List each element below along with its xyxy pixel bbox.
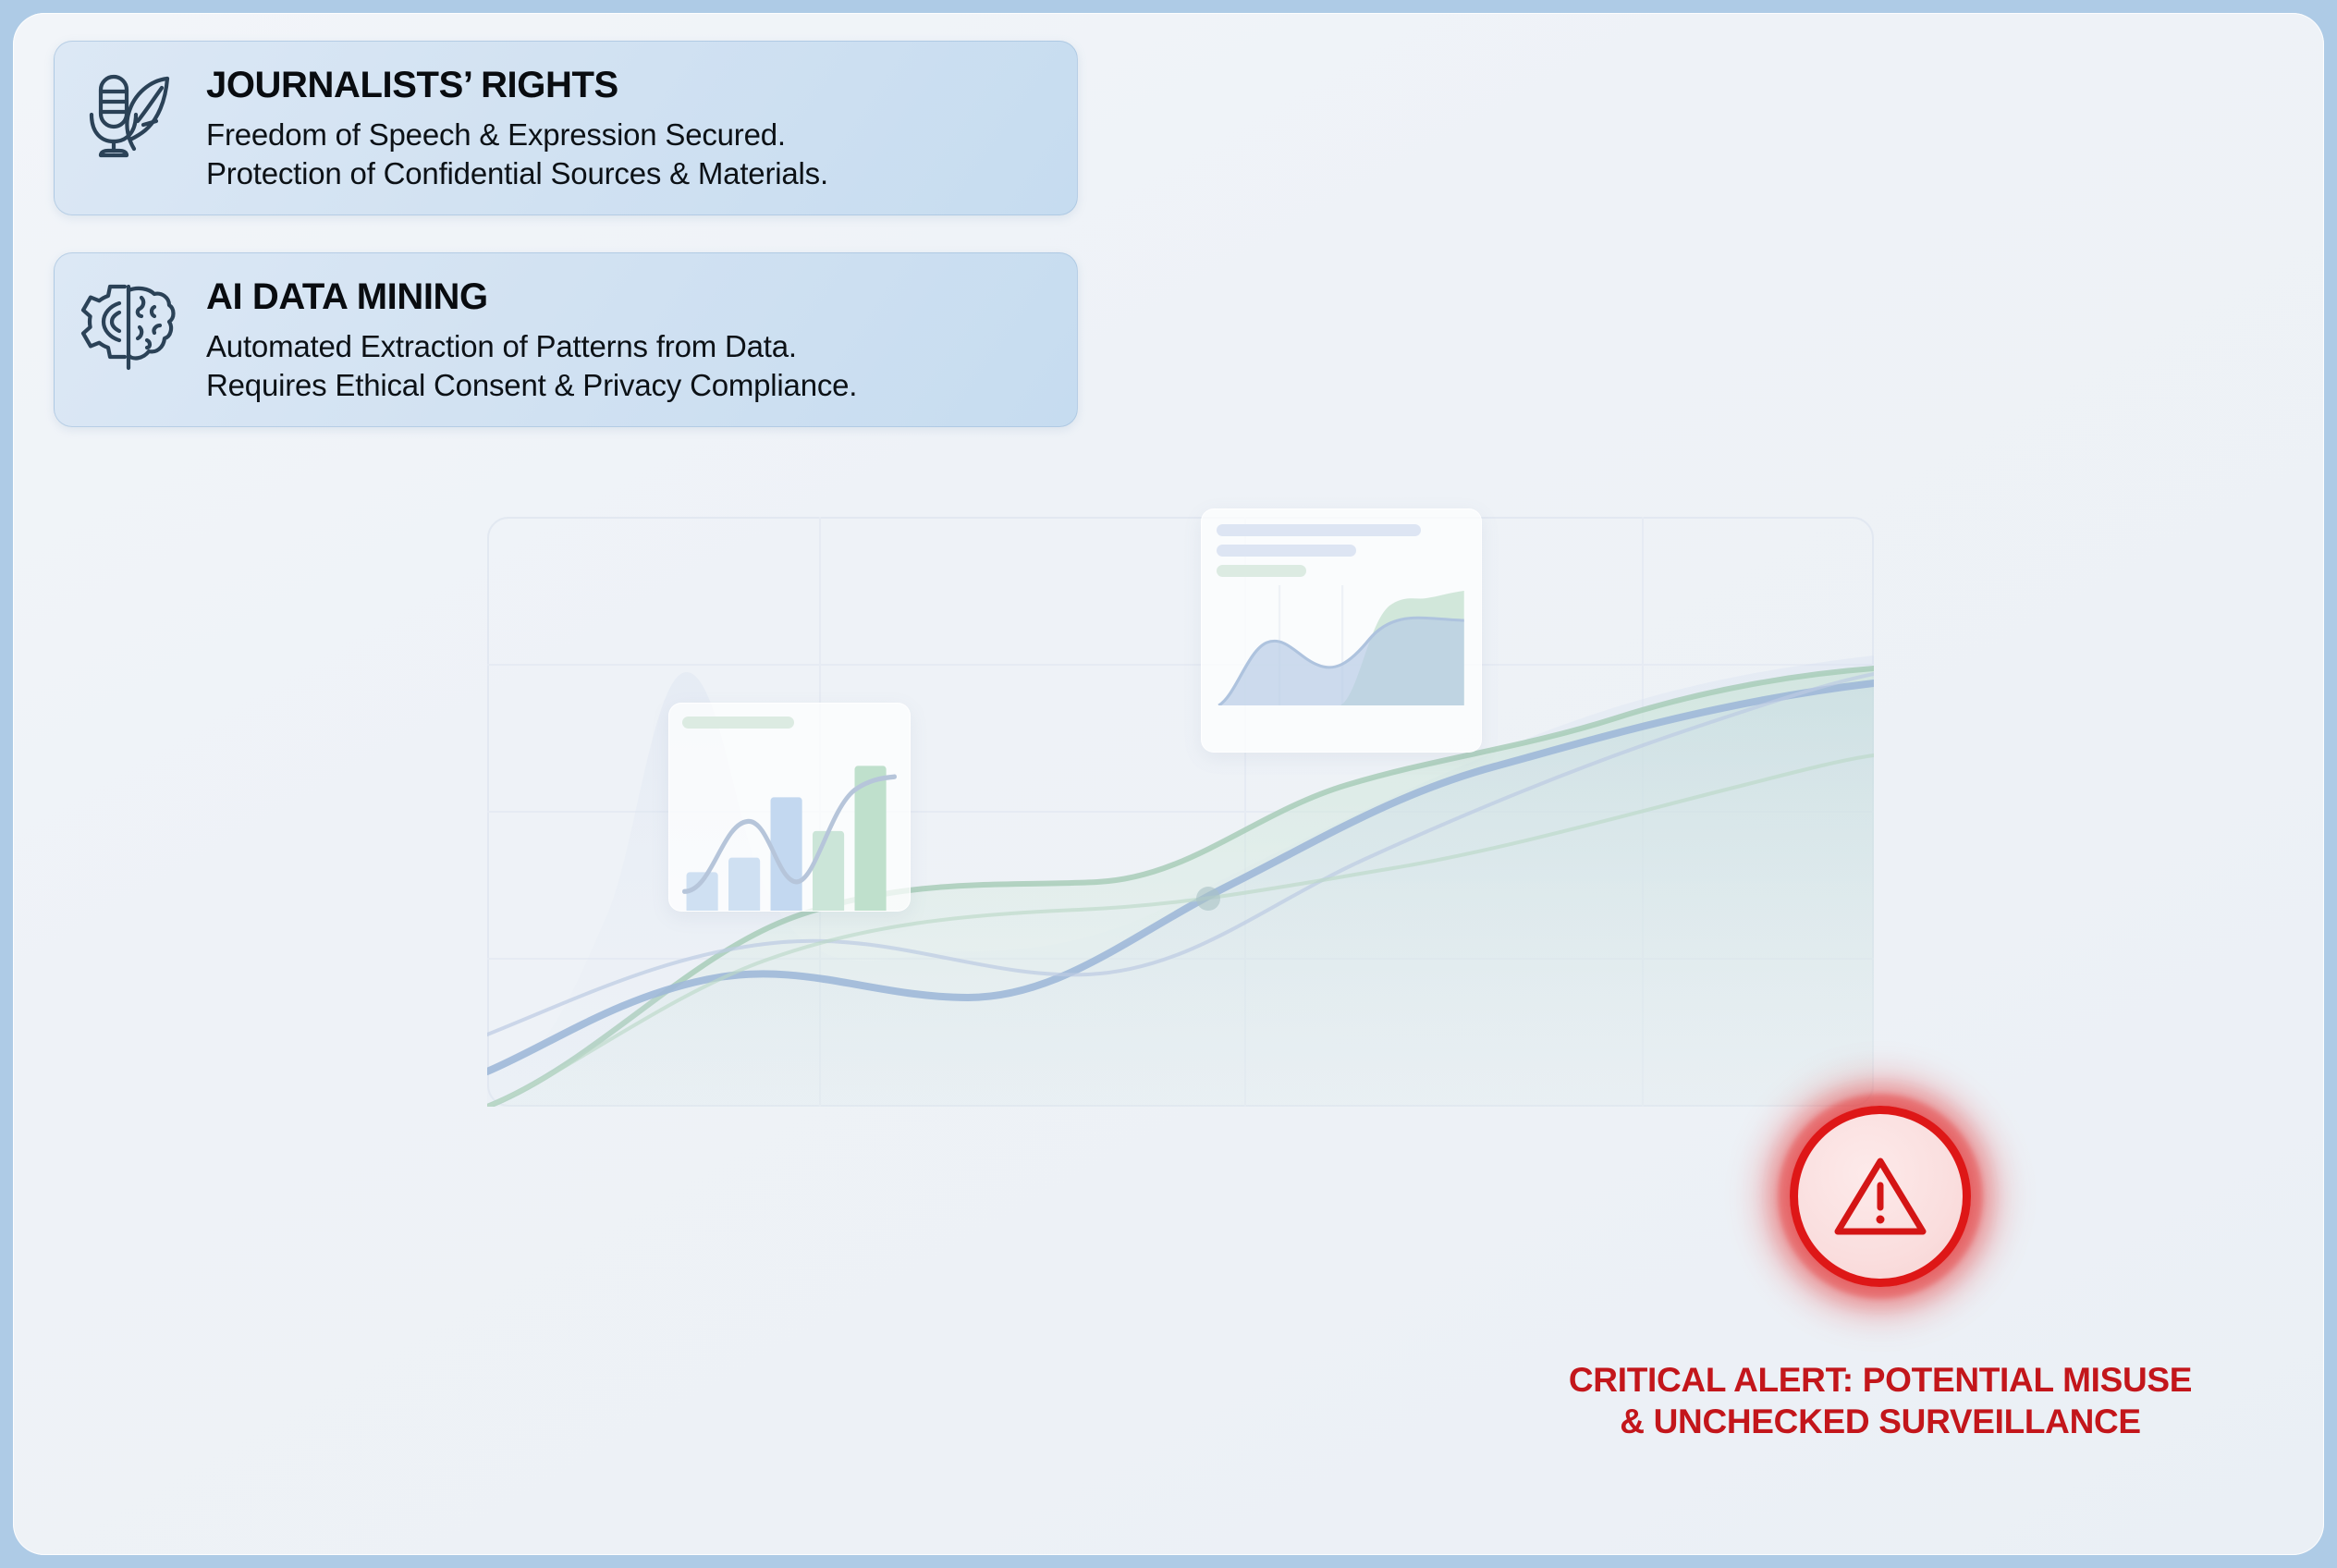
alert-message-line-2: & UNCHECKED SURVEILLANCE bbox=[1569, 1401, 2192, 1442]
microphone-quill-icon bbox=[75, 62, 182, 169]
mini-card-skeleton-line bbox=[1217, 565, 1306, 577]
mini-card-skeleton-line bbox=[682, 717, 794, 729]
warning-triangle-icon bbox=[1832, 1152, 1928, 1241]
critical-alert: CRITICAL ALERT: POTENTIAL MISUSE & UNCHE… bbox=[1732, 1067, 2028, 1442]
card-line-1: Automated Extraction of Patterns from Da… bbox=[206, 327, 1053, 366]
info-card-list: JOURNALISTS’ RIGHTS Freedom of Speech & … bbox=[54, 41, 1078, 427]
mini-card-skeleton-line bbox=[1217, 524, 1421, 536]
gear-brain-icon bbox=[75, 274, 182, 381]
mini-area-chart bbox=[1217, 585, 1466, 705]
mini-bar-chart-card bbox=[668, 703, 911, 912]
card-line-2: Requires Ethical Consent & Privacy Compl… bbox=[206, 366, 1053, 405]
screenshot-root: JOURNALISTS’ RIGHTS Freedom of Speech & … bbox=[0, 0, 2337, 1568]
info-card-ai-data-mining[interactable]: AI DATA MINING Automated Extraction of P… bbox=[54, 252, 1078, 427]
alert-badge[interactable] bbox=[1751, 1067, 2010, 1326]
app-frame: JOURNALISTS’ RIGHTS Freedom of Speech & … bbox=[13, 13, 2324, 1555]
info-card-journalists-rights[interactable]: JOURNALISTS’ RIGHTS Freedom of Speech & … bbox=[54, 41, 1078, 215]
alert-disc bbox=[1790, 1106, 1971, 1287]
alert-message: CRITICAL ALERT: POTENTIAL MISUSE & UNCHE… bbox=[1569, 1359, 2192, 1442]
card-line-2: Protection of Confidential Sources & Mat… bbox=[206, 154, 1053, 193]
mini-area-chart-card bbox=[1201, 508, 1482, 753]
info-card-text: AI DATA MINING Automated Extraction of P… bbox=[206, 274, 1053, 404]
card-title: JOURNALISTS’ RIGHTS bbox=[206, 66, 1053, 104]
alert-message-line-1: CRITICAL ALERT: POTENTIAL MISUSE bbox=[1569, 1359, 2192, 1401]
info-card-text: JOURNALISTS’ RIGHTS Freedom of Speech & … bbox=[206, 62, 1053, 192]
chart-highlight-point bbox=[1196, 887, 1220, 911]
card-line-1: Freedom of Speech & Expression Secured. bbox=[206, 116, 1053, 154]
mini-bar-chart bbox=[682, 737, 897, 912]
card-title: AI DATA MINING bbox=[206, 277, 1053, 316]
mini-card-skeleton-line bbox=[1217, 545, 1356, 557]
